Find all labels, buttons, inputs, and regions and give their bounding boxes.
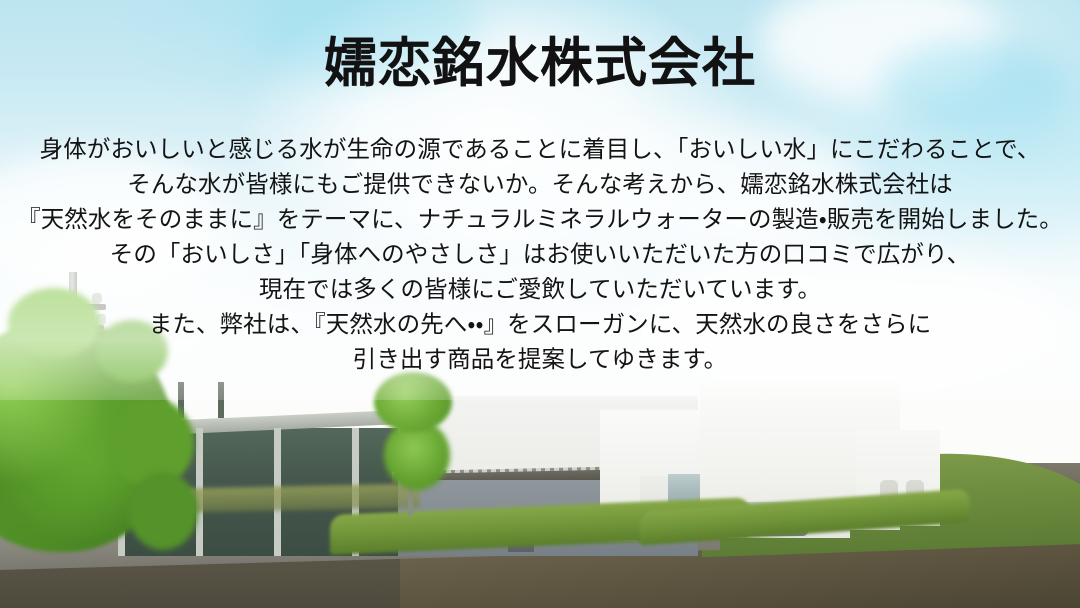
description-line: 『天然水をそのままに』をテーマに、ナチュラルミネラルウォーターの製造・販売を開始… [0,202,1080,237]
description-line: そんな水が皆様にもご提供できないか。そんな考えから、嬬恋銘水株式会社は [0,167,1080,202]
slide-content: 嬬恋銘水株式会社 身体がおいしいと感じる水が生命の源であることに着目し、「おいし… [0,0,1080,608]
description-line: 身体がおいしいと感じる水が生命の源であることに着目し、「おいしい水」にこだわるこ… [0,132,1080,167]
slide-root: 嬬恋銘水株式会社 身体がおいしいと感じる水が生命の源であることに着目し、「おいし… [0,0,1080,608]
description-line: その「おいしさ」「身体へのやさしさ」はお使いいただいた方の口コミで広がり、 [0,237,1080,272]
company-description: 身体がおいしいと感じる水が生命の源であることに着目し、「おいしい水」にこだわるこ… [0,132,1080,377]
description-line: 引き出す商品を提案してゆきます。 [0,342,1080,377]
description-line: 現在では多くの皆様にご愛飲していただいています。 [0,272,1080,307]
page-title: 嬬恋銘水株式会社 [0,34,1080,95]
description-line: また、弊社は、『天然水の先へ・・』をスローガンに、天然水の良さをさらに [0,307,1080,342]
